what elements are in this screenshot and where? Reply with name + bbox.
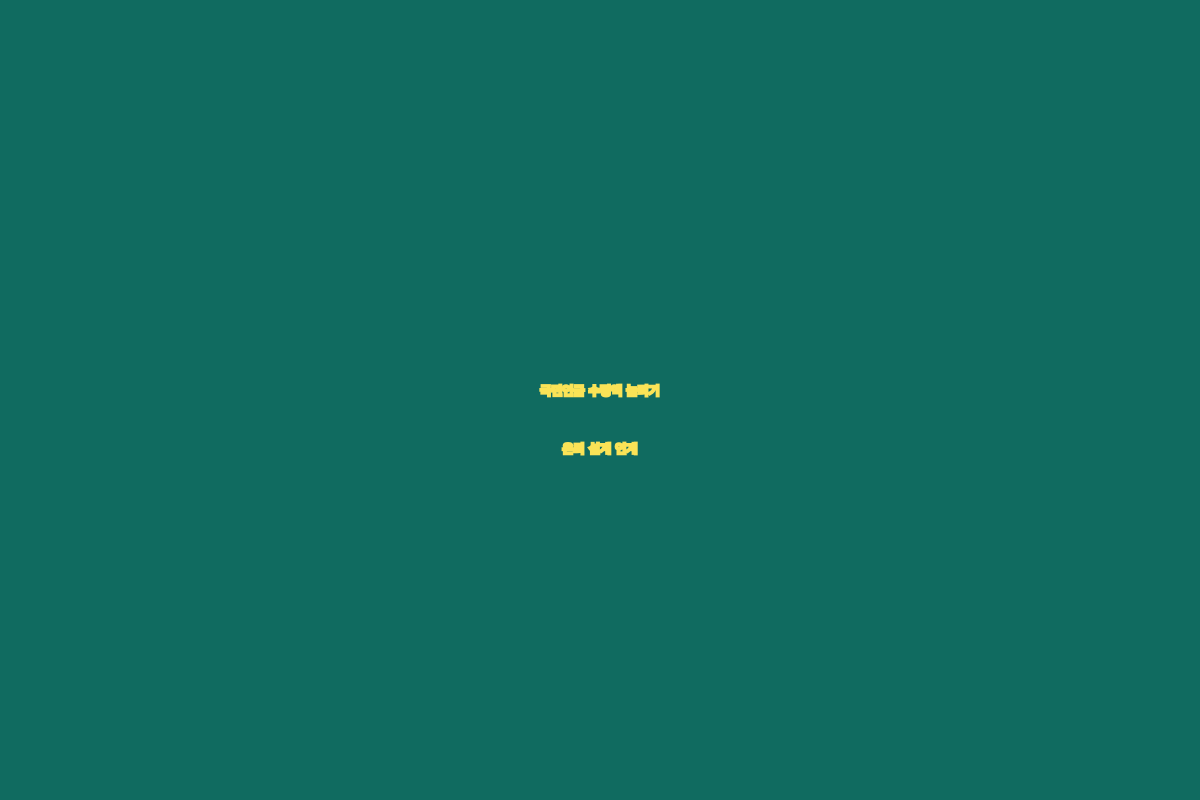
title-block: 국민연금 수령액 늘리기 은퇴 설계 연계 bbox=[0, 385, 1200, 455]
thumbnail-canvas: 국민연금 수령액 늘리기 은퇴 설계 연계 bbox=[0, 0, 1200, 800]
title-line-primary: 국민연금 수령액 늘리기 bbox=[0, 385, 1200, 397]
title-line-secondary: 은퇴 설계 연계 bbox=[0, 443, 1200, 455]
